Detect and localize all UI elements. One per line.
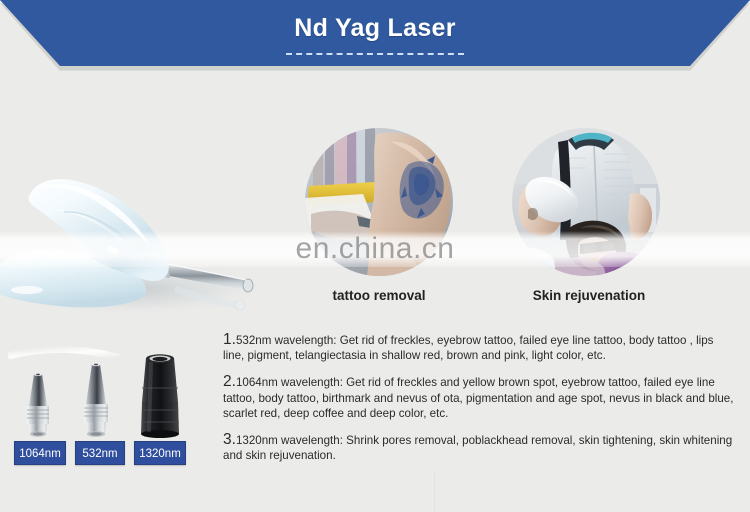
description-item-2: 2.1064nm wavelength: Get rid of freckles… — [223, 374, 737, 421]
laser-tips-photo — [8, 346, 204, 442]
page-title: Nd Yag Laser — [0, 14, 750, 43]
circle-photo-skin-rejuvenation — [512, 128, 660, 276]
description-number-3: 3. — [223, 431, 236, 448]
description-number-1: 1. — [223, 331, 236, 348]
caption-tattoo-removal: tattoo removal — [269, 288, 489, 303]
description-text-1: 532nm wavelength: Get rid of freckles, e… — [223, 334, 713, 362]
handpiece-product-photo — [0, 84, 302, 324]
description-list: 1.532nm wavelength: Get rid of freckles,… — [223, 332, 737, 463]
description-text-3: 1320nm wavelength: Shrink pores removal,… — [223, 434, 732, 462]
description-number-2: 2. — [223, 373, 236, 390]
wavelength-label-532nm[interactable]: 532nm — [75, 441, 125, 465]
description-item-1: 1.532nm wavelength: Get rid of freckles,… — [223, 332, 737, 363]
product-info-banner: Nd Yag Laser — [0, 0, 750, 512]
bottom-seam-divider — [434, 470, 435, 512]
caption-skin-rejuvenation: Skin rejuvenation — [479, 288, 699, 303]
description-text-2: 1064nm wavelength: Get rid of freckles a… — [223, 376, 733, 419]
wavelength-label-1320nm[interactable]: 1320nm — [134, 441, 186, 465]
title-underline — [286, 53, 464, 55]
wavelength-label-1064nm[interactable]: 1064nm — [14, 441, 66, 465]
description-item-3: 3.1320nm wavelength: Shrink pores remova… — [223, 432, 737, 463]
circle-photo-tattoo-removal — [305, 128, 453, 276]
wavelength-label-group: 1064nm 532nm 1320nm — [14, 441, 214, 467]
